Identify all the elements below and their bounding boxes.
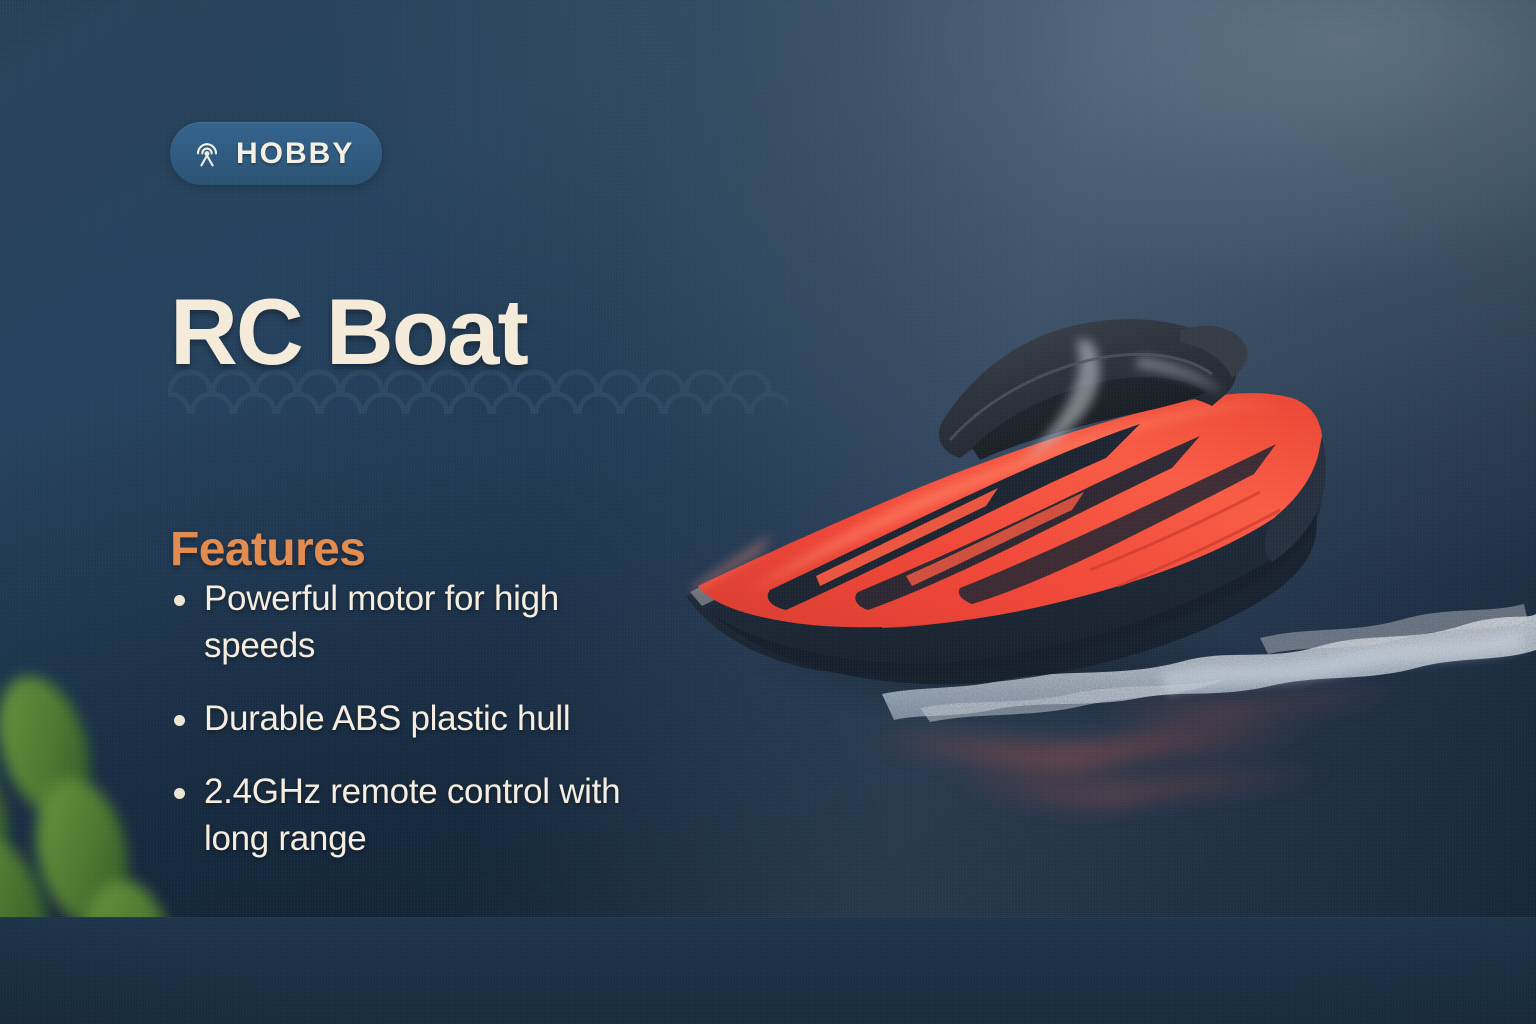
product-card: HOBBY RC Boat Features Powerful motor fo… — [0, 0, 1536, 1024]
badge-label: HOBBY — [236, 137, 354, 171]
broadcast-antenna-icon — [192, 139, 222, 169]
bottom-band — [0, 917, 1536, 1024]
wave-row-bottom — [168, 394, 788, 414]
features-heading: Features — [170, 522, 365, 577]
page-title: RC Boat — [170, 285, 527, 379]
rc-boat-illustration — [620, 270, 1536, 830]
category-badge[interactable]: HOBBY — [170, 122, 382, 185]
